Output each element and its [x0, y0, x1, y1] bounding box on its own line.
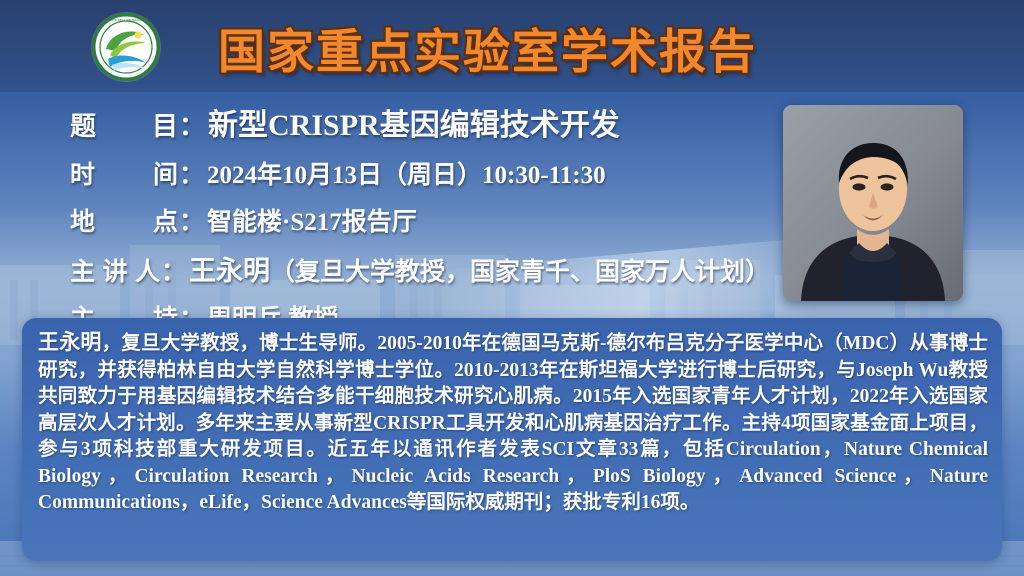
info-row-time: 时间 ： 2024年10月13日（周日）10:30-11:30	[70, 155, 770, 191]
info-row-topic: 题目 ： 新型CRISPR基因编辑技术开发	[70, 100, 770, 144]
info-value-speaker-affiliation: （复旦大学教授，国家青千、国家万人计划）	[270, 252, 770, 288]
bio-name: 王永明	[38, 330, 102, 354]
info-label-speaker: 主讲人	[70, 252, 160, 288]
speaker-portrait	[783, 105, 963, 301]
speaker-biography: 王永明，复旦大学教授，博士生导师。2005-2010年在德国马克斯-德尔布吕克分…	[22, 318, 1002, 561]
info-row-speaker: 主讲人 ： 王永明 （复旦大学教授，国家青千、国家万人计划）	[70, 249, 770, 288]
info-colon-time: ：	[178, 155, 207, 191]
info-label-time: 时间	[70, 155, 178, 191]
info-value-speaker-name: 王永明	[189, 249, 270, 288]
info-label-location: 地点	[70, 202, 178, 238]
info-colon-location: ：	[178, 202, 207, 238]
info-row-location: 地点 ： 智能楼·S217报告厅	[70, 202, 770, 238]
info-colon-speaker: ：	[160, 252, 189, 288]
state-key-lab-logo: STATE KEY LABORATORY	[92, 13, 160, 81]
info-label-topic: 题目	[70, 106, 178, 143]
info-colon-topic: ：	[178, 106, 208, 143]
info-value-location: 智能楼·S217报告厅	[207, 202, 417, 238]
event-info-block: 题目 ： 新型CRISPR基因编辑技术开发 时间 ： 2024年10月13日（周…	[70, 100, 770, 346]
header-band: STATE KEY LABORATORY 国家重点实验室学术报告	[0, 0, 1024, 92]
info-value-topic: 新型CRISPR基因编辑技术开发	[208, 100, 620, 144]
poster-root: STATE KEY LABORATORY 国家重点实验室学术报告 题目 ： 新型…	[0, 0, 1024, 576]
svg-text:STATE KEY LABORATORY: STATE KEY LABORATORY	[108, 18, 145, 22]
info-value-time: 2024年10月13日（周日）10:30-11:30	[207, 155, 606, 191]
page-title: 国家重点实验室学术报告	[218, 10, 858, 84]
bio-text: ，复旦大学教授，博士生导师。2005-2010年在德国马克斯-德尔布吕克分子医学…	[38, 333, 988, 513]
